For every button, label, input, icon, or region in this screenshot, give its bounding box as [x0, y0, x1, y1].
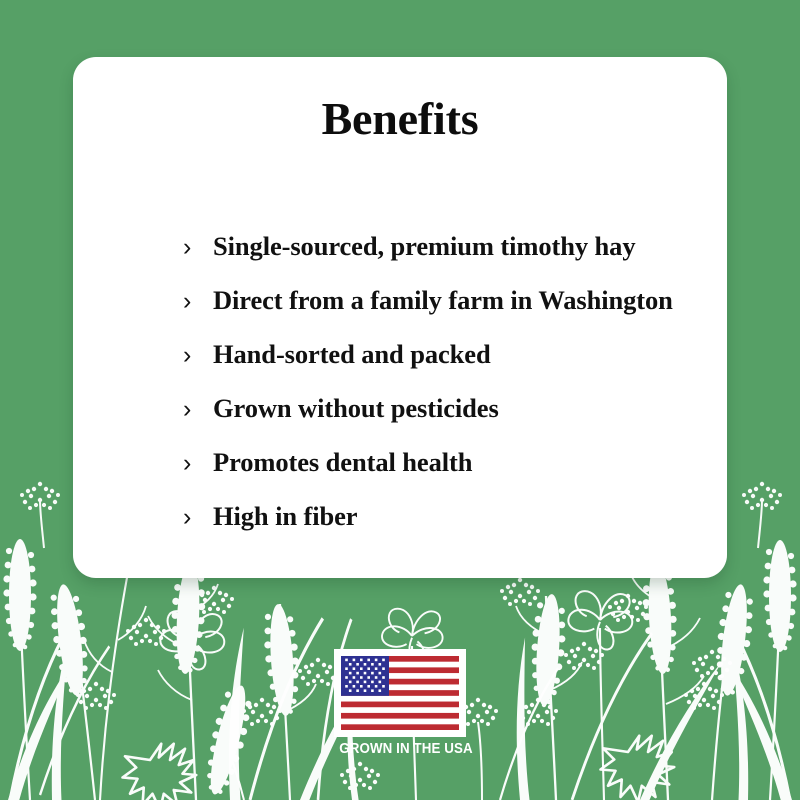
- list-item: › Direct from a family farm in Washingto…: [183, 287, 707, 341]
- list-item: › Promotes dental health: [183, 449, 707, 503]
- grown-in-usa-badge: GROWN IN THE USA: [334, 649, 466, 757]
- chevron-right-icon: ›: [183, 289, 213, 314]
- chevron-right-icon: ›: [183, 397, 213, 422]
- list-item: › Grown without pesticides: [183, 395, 707, 449]
- list-item: › Single-sourced, premium timothy hay: [183, 233, 707, 287]
- chevron-right-icon: ›: [183, 235, 213, 260]
- chevron-right-icon: ›: [183, 343, 213, 368]
- list-item-label: Hand-sorted and packed: [213, 341, 491, 368]
- list-item: › Hand-sorted and packed: [183, 341, 707, 395]
- list-item: › High in fiber: [183, 503, 707, 557]
- grown-in-usa-caption: GROWN IN THE USA: [339, 741, 460, 757]
- benefits-card: Benefits › Single-sourced, premium timot…: [73, 57, 727, 578]
- list-item-label: Promotes dental health: [213, 449, 472, 476]
- benefits-list: › Single-sourced, premium timothy hay › …: [183, 233, 707, 557]
- chevron-right-icon: ›: [183, 451, 213, 476]
- list-item-label: Grown without pesticides: [213, 395, 499, 422]
- page-title: Benefits: [73, 57, 727, 143]
- united-states-flag-icon: [334, 649, 466, 737]
- list-item-label: High in fiber: [213, 503, 357, 530]
- list-item-label: Direct from a family farm in Washington: [213, 287, 673, 314]
- list-item-label: Single-sourced, premium timothy hay: [213, 233, 635, 260]
- product-benefits-poster: Benefits › Single-sourced, premium timot…: [0, 0, 800, 800]
- chevron-right-icon: ›: [183, 505, 213, 530]
